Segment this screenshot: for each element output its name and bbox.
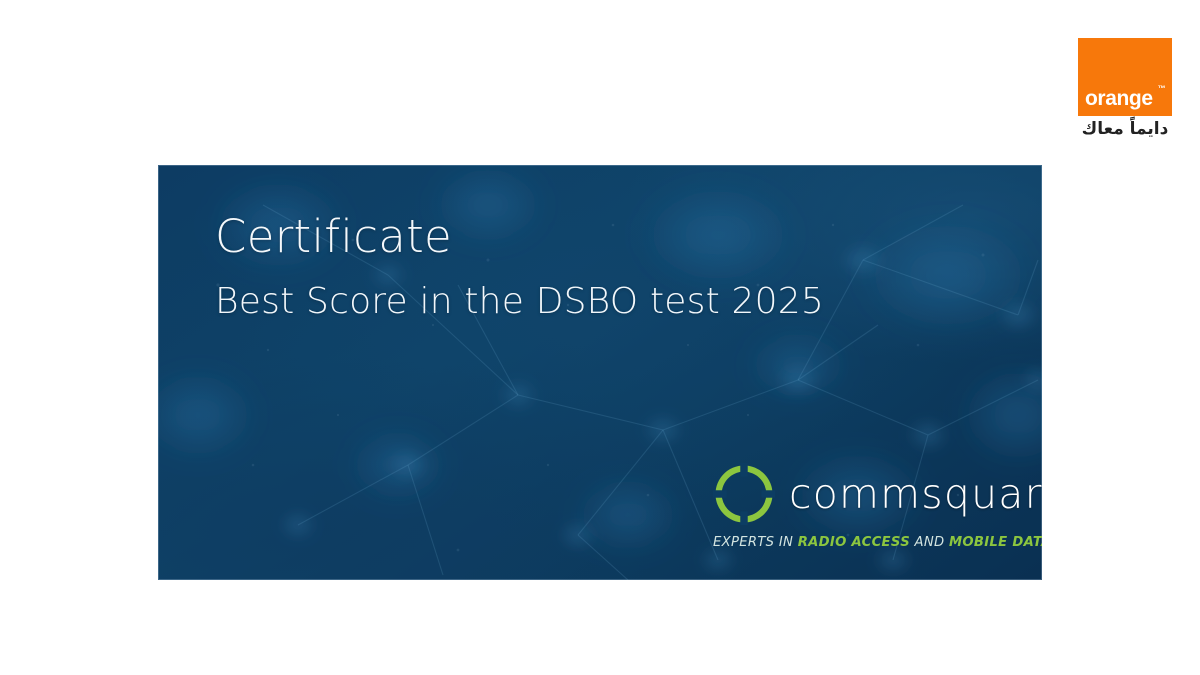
tagline-part-3: AND (910, 535, 949, 550)
commsquare-wordmark: commsquare (789, 474, 1042, 515)
commsquare-mark-icon (713, 463, 775, 525)
certificate-subtitle: Best Score in the DSBO test 2025 (215, 282, 824, 322)
tagline-part-4: MOBILE DATA (949, 535, 1042, 550)
banner-text-block: Certificate Best Score in the DSBO test … (215, 213, 824, 322)
certificate-title: Certificate (215, 213, 824, 260)
trademark-icon: ™ (1158, 85, 1166, 93)
tagline-part-2: RADIO ACCESS (798, 535, 910, 550)
orange-arabic-tagline: دايماً معاك (1075, 120, 1175, 139)
orange-wordmark-text: orange (1085, 87, 1153, 110)
certificate-banner: Certificate Best Score in the DSBO test … (158, 165, 1042, 580)
tagline-part-1: EXPERTS IN (713, 535, 798, 550)
commsquare-logo: commsquare EXPERTS IN RADIO ACCESS AND M… (713, 463, 1021, 549)
orange-wordmark-container: orange™ (1078, 88, 1153, 116)
commsquare-logo-row: commsquare (713, 463, 1021, 525)
orange-logo: orange™ (1078, 38, 1172, 116)
commsquare-tagline: EXPERTS IN RADIO ACCESS AND MOBILE DATA (713, 536, 1021, 549)
